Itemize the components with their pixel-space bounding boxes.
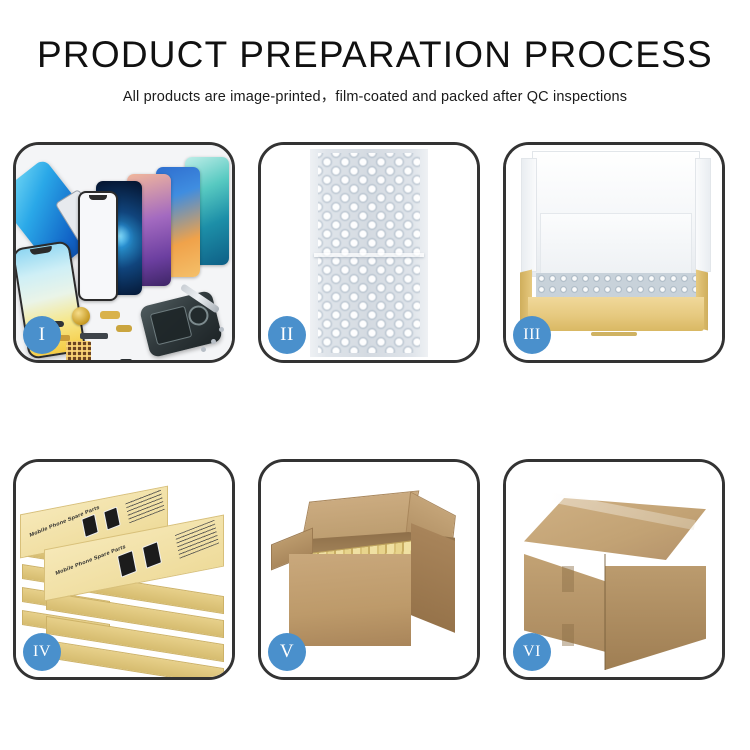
screw-3-icon <box>219 327 224 332</box>
flex-cable-3-icon <box>80 333 108 339</box>
box-spec-lines-rear <box>125 489 165 524</box>
flex-cable-1-icon <box>100 311 120 319</box>
process-step-panel-1: I <box>13 142 235 363</box>
box-spec-lines-front <box>175 520 219 559</box>
step-badge-1: I <box>23 316 61 354</box>
phone-white-frame-icon <box>78 191 118 301</box>
page-title: PRODUCT PREPARATION PROCESS <box>0 34 750 76</box>
step-badge-4: IV <box>23 633 61 671</box>
process-step-grid: I II III <box>13 142 737 680</box>
carton-tab-2 <box>562 624 574 646</box>
chip-grid-icon <box>66 341 91 360</box>
speaker-coil-icon <box>72 307 90 325</box>
foam-sheet-icon <box>540 213 692 275</box>
bubble-wrap-bag-icon <box>310 149 428 357</box>
camera-module-6-icon <box>120 359 132 360</box>
box-screen-image-rear-2 <box>103 506 121 530</box>
step-badge-3: III <box>513 316 551 354</box>
process-step-panel-4: Mobile Phone Spare Parts Mobile Phone Sp… <box>13 459 235 680</box>
carton-corner-edge <box>604 554 606 670</box>
process-step-panel-5: V <box>258 459 480 680</box>
carton-front-face <box>289 554 411 646</box>
step-badge-2: II <box>268 316 306 354</box>
header: PRODUCT PREPARATION PROCESS All products… <box>0 0 750 106</box>
step-badge-6: VI <box>513 633 551 671</box>
phone-motherboard-icon <box>139 290 223 358</box>
box-screen-image-front-1 <box>117 550 137 578</box>
screw-1-icon <box>211 339 216 344</box>
box-label-front: Mobile Phone Spare Parts <box>55 544 126 577</box>
box-front-tab <box>591 332 637 336</box>
process-step-panel-2: II <box>258 142 480 363</box>
kraft-box-front-icon <box>528 297 704 331</box>
step-badge-5: V <box>268 633 306 671</box>
product-preparation-infographic: PRODUCT PREPARATION PROCESS All products… <box>0 0 750 750</box>
bag-seam <box>314 253 424 257</box>
flex-cable-2-icon <box>116 325 132 332</box>
box-screen-image-front-2 <box>142 541 162 569</box>
page-subtitle: All products are image-printed，film-coat… <box>0 85 750 106</box>
sealed-carton-right-face <box>605 566 706 670</box>
carton-side-face <box>411 523 455 633</box>
carton-tab-1 <box>562 566 574 592</box>
screw-2-icon <box>201 347 206 352</box>
process-step-panel-6: VI <box>503 459 725 680</box>
box-screen-image-rear-1 <box>81 514 99 538</box>
process-step-panel-3: III <box>503 142 725 363</box>
